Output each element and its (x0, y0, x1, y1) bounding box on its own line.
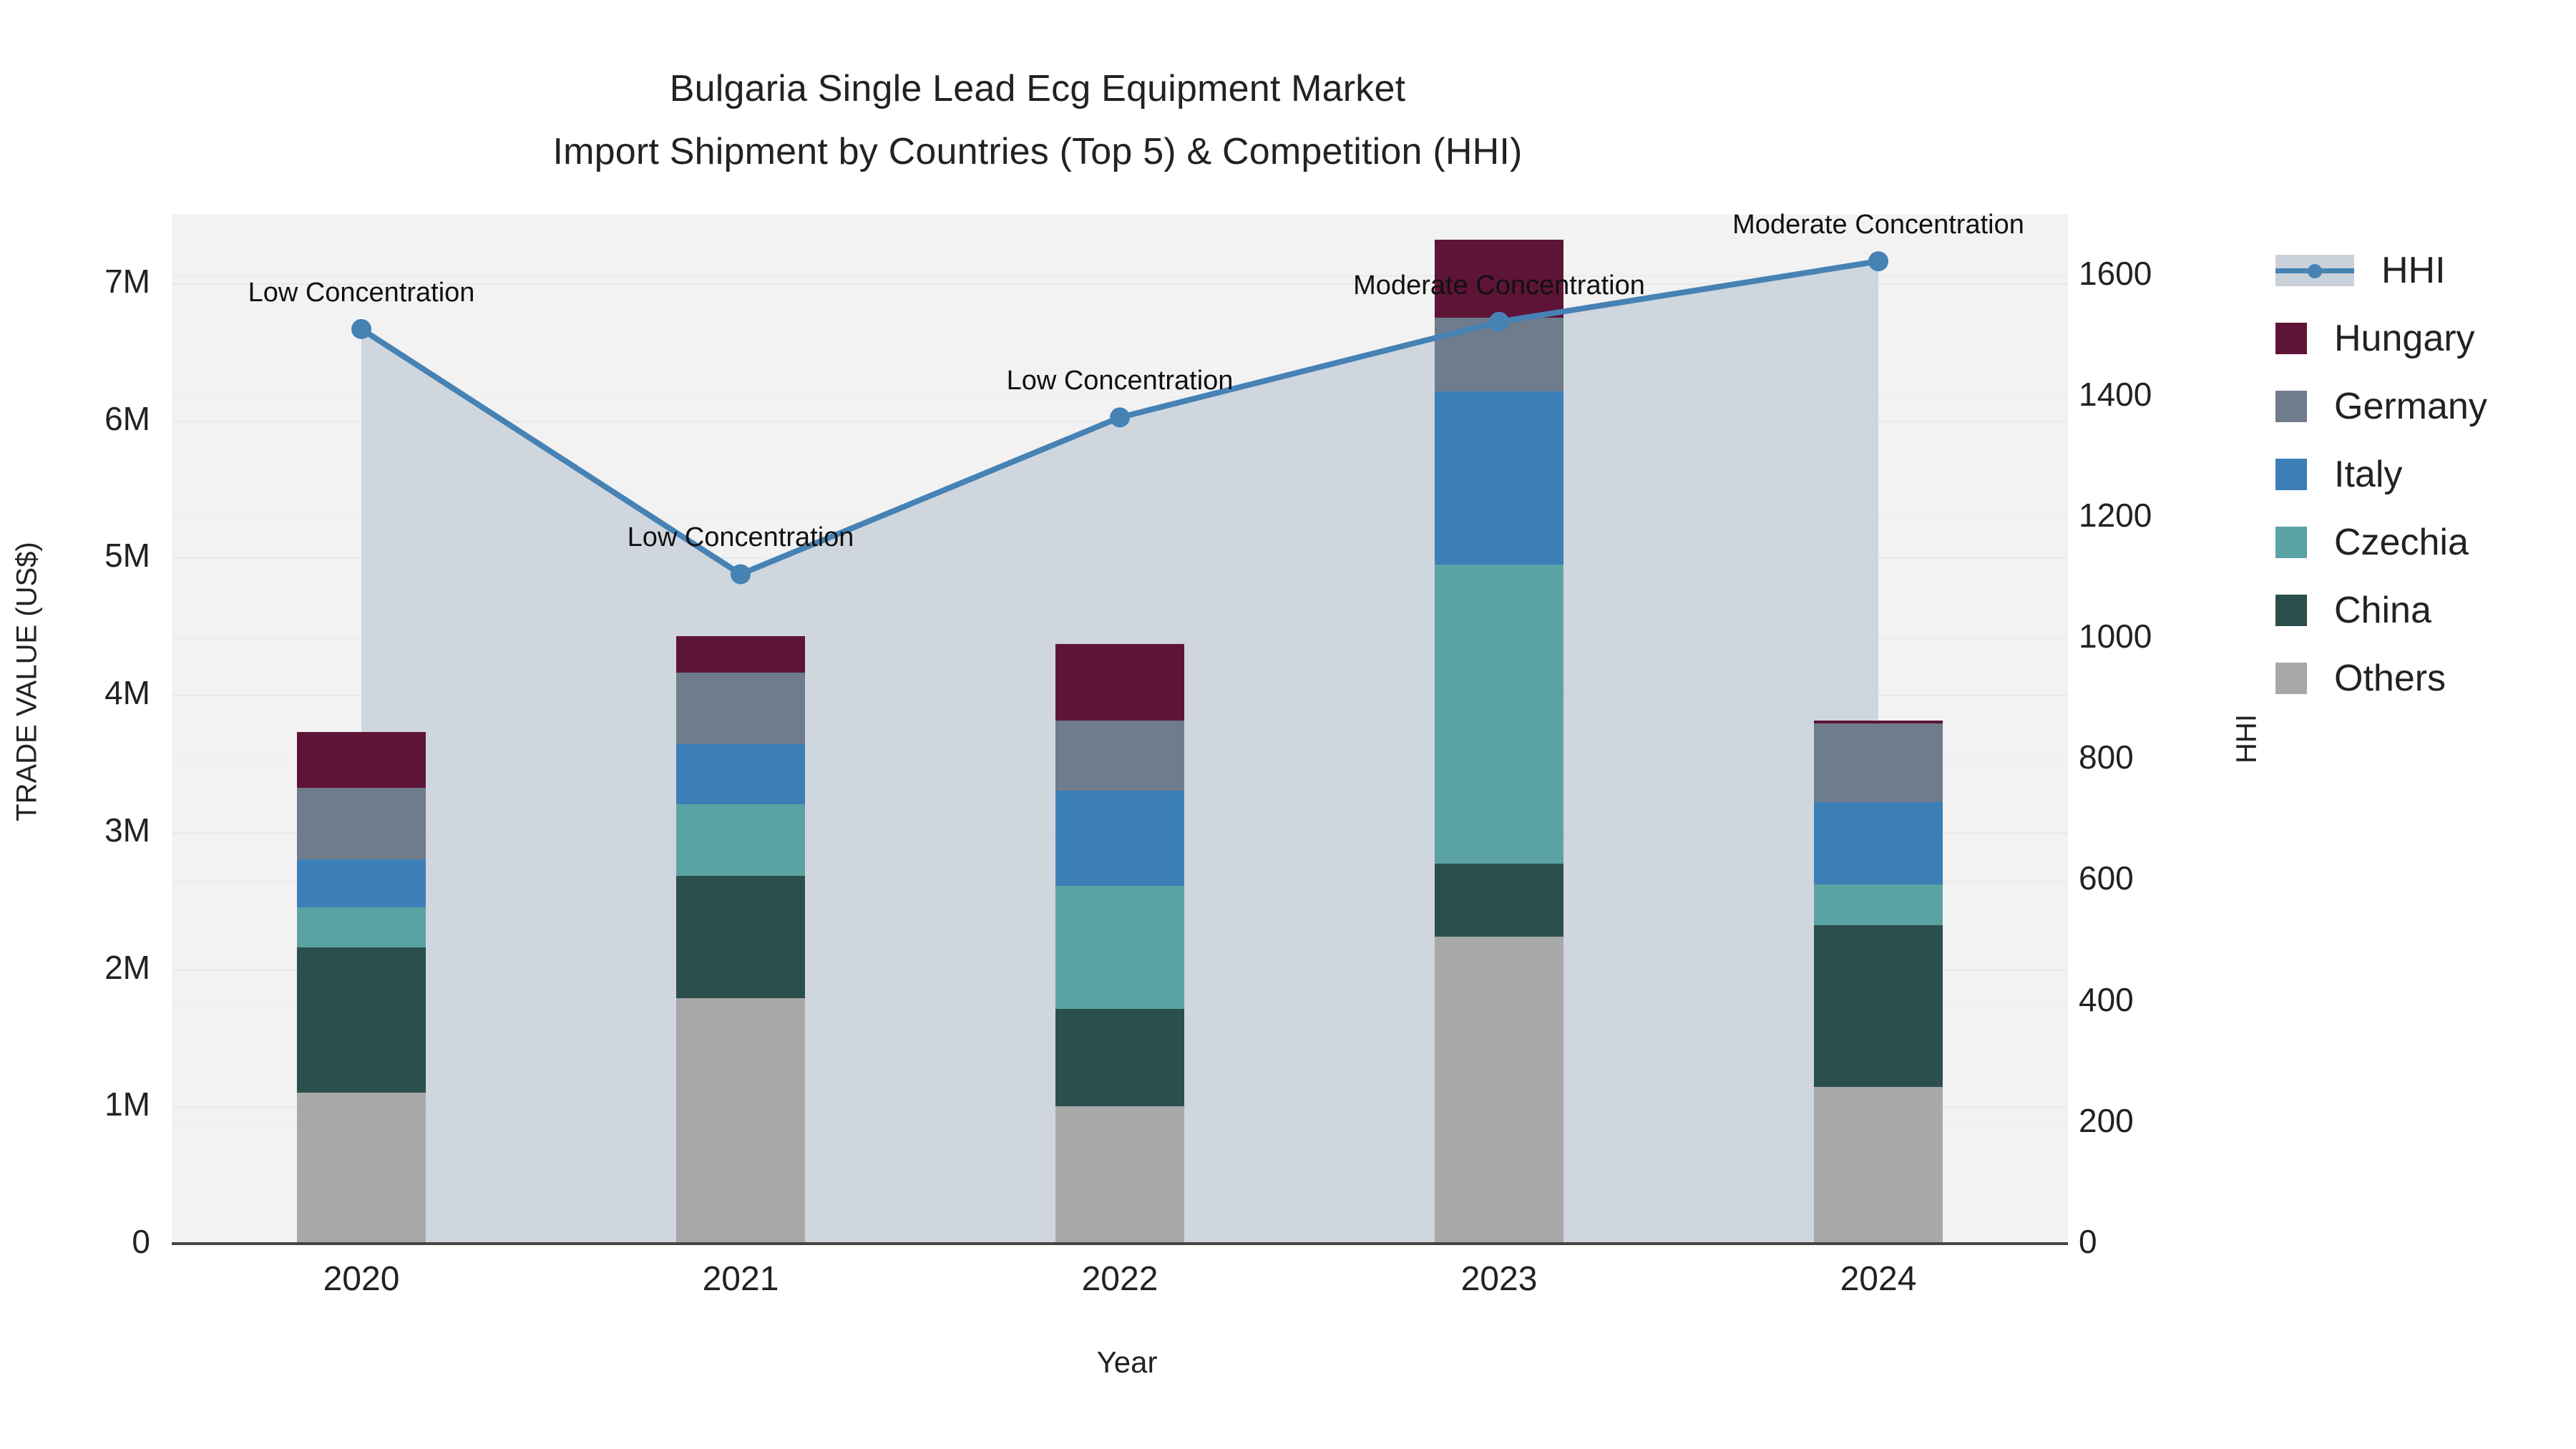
legend-item-label: Czechia (2334, 521, 2469, 564)
bar-segment[interactable] (1814, 1087, 1943, 1244)
bar-segment[interactable] (1055, 886, 1184, 1010)
legend-item-label: Italy (2334, 453, 2402, 496)
legend-item[interactable]: Czechia (2275, 508, 2576, 576)
bar-segment[interactable] (297, 859, 426, 907)
y-axis-right-tick: 200 (2079, 1101, 2236, 1140)
y-axis-left-tick: 6M (7, 399, 150, 438)
bar-group[interactable] (1814, 215, 1943, 1244)
y-axis-left-tick: 2M (7, 948, 150, 987)
y-axis-right-tick: 800 (2079, 738, 2236, 776)
chart-title: Bulgaria Single Lead Ecg Equipment Marke… (0, 57, 2075, 183)
bar-segment[interactable] (676, 636, 805, 673)
bar-segment[interactable] (297, 907, 426, 947)
bar-segment[interactable] (1055, 1009, 1184, 1106)
legend-item-label: Others (2334, 657, 2446, 700)
y-axis-left-tick: 5M (7, 536, 150, 575)
legend-swatch (2275, 391, 2307, 422)
legend-line-dot (2308, 264, 2322, 278)
y-axis-left-tick: 1M (7, 1085, 150, 1123)
bar-segment[interactable] (1435, 864, 1563, 937)
legend-item[interactable]: Italy (2275, 440, 2576, 508)
bar-group[interactable] (297, 215, 426, 1244)
legend-item-label: Germany (2334, 385, 2487, 428)
y-axis-left-tick: 7M (7, 262, 150, 301)
y-axis-right-tick: 1000 (2079, 617, 2236, 655)
hhi-point-annotation: Low Concentration (248, 278, 475, 308)
legend-swatch (2275, 595, 2307, 626)
chart-legend: HHIHungaryGermanyItalyCzechiaChinaOthers (2275, 236, 2576, 712)
bar-segment[interactable] (676, 744, 805, 804)
bar-segment[interactable] (1814, 925, 1943, 1087)
bar-segment[interactable] (1814, 723, 1943, 801)
bar-segment[interactable] (1435, 318, 1563, 392)
x-axis-title: Year (912, 1345, 1342, 1380)
bar-segment[interactable] (1435, 937, 1563, 1244)
bar-segment[interactable] (297, 947, 426, 1093)
bar-segment[interactable] (1055, 1106, 1184, 1244)
y-axis-right-tick: 0 (2079, 1222, 2236, 1261)
legend-item-label: China (2334, 589, 2431, 632)
y-axis-left-tick: 4M (7, 673, 150, 712)
bar-segment[interactable] (297, 788, 426, 859)
hhi-point-annotation: Low Concentration (628, 522, 854, 553)
bar-segment[interactable] (1055, 721, 1184, 791)
y-axis-left-tick: 3M (7, 811, 150, 849)
legend-item-label: Hungary (2334, 317, 2475, 360)
legend-swatch (2275, 323, 2307, 354)
chart-canvas: Bulgaria Single Lead Ecg Equipment Marke… (0, 0, 2576, 1449)
y-axis-left-tick: 0 (7, 1222, 150, 1261)
x-axis-tick: 2020 (254, 1259, 469, 1299)
x-axis-tick: 2023 (1392, 1259, 1606, 1299)
bar-segment[interactable] (297, 732, 426, 789)
legend-swatch (2275, 527, 2307, 558)
hhi-point-annotation: Moderate Concentration (1732, 210, 2024, 240)
legend-swatch (2275, 663, 2307, 694)
bar-segment[interactable] (676, 673, 805, 744)
bar-segment[interactable] (1814, 721, 1943, 723)
y-axis-right-tick: 1400 (2079, 375, 2236, 414)
bar-segment[interactable] (676, 876, 805, 998)
x-axis-tick: 2021 (633, 1259, 848, 1299)
bar-segment[interactable] (1435, 391, 1563, 565)
x-axis-tick: 2024 (1771, 1259, 1986, 1299)
y-axis-right-tick: 600 (2079, 859, 2236, 897)
chart-title-line-2: Import Shipment by Countries (Top 5) & C… (0, 120, 2075, 183)
chart-title-line-1: Bulgaria Single Lead Ecg Equipment Marke… (0, 57, 2075, 120)
bar-segment[interactable] (676, 998, 805, 1244)
legend-item[interactable]: Hungary (2275, 304, 2576, 372)
legend-line-marker (2275, 255, 2354, 286)
legend-item[interactable]: HHI (2275, 236, 2576, 304)
y-axis-right-tick: 1200 (2079, 496, 2236, 535)
legend-swatch (2275, 459, 2307, 490)
legend-item[interactable]: China (2275, 576, 2576, 644)
bar-segment[interactable] (297, 1093, 426, 1244)
legend-item-label: HHI (2381, 249, 2446, 292)
bar-group[interactable] (676, 215, 805, 1244)
legend-item[interactable]: Germany (2275, 372, 2576, 440)
legend-item[interactable]: Others (2275, 644, 2576, 712)
bar-segment[interactable] (1055, 791, 1184, 885)
hhi-point-annotation: Moderate Concentration (1353, 270, 1645, 301)
x-axis-line (172, 1242, 2068, 1245)
bar-group[interactable] (1435, 215, 1563, 1244)
hhi-point-annotation: Low Concentration (1007, 366, 1234, 396)
bar-segment[interactable] (1814, 802, 1943, 884)
bar-segment[interactable] (1435, 565, 1563, 864)
bar-segment[interactable] (1055, 644, 1184, 721)
x-axis-tick: 2022 (1013, 1259, 1227, 1299)
y-axis-right-tick: 400 (2079, 980, 2236, 1019)
bar-segment[interactable] (676, 804, 805, 876)
y-axis-right-tick: 1600 (2079, 254, 2236, 293)
bar-segment[interactable] (1814, 884, 1943, 926)
